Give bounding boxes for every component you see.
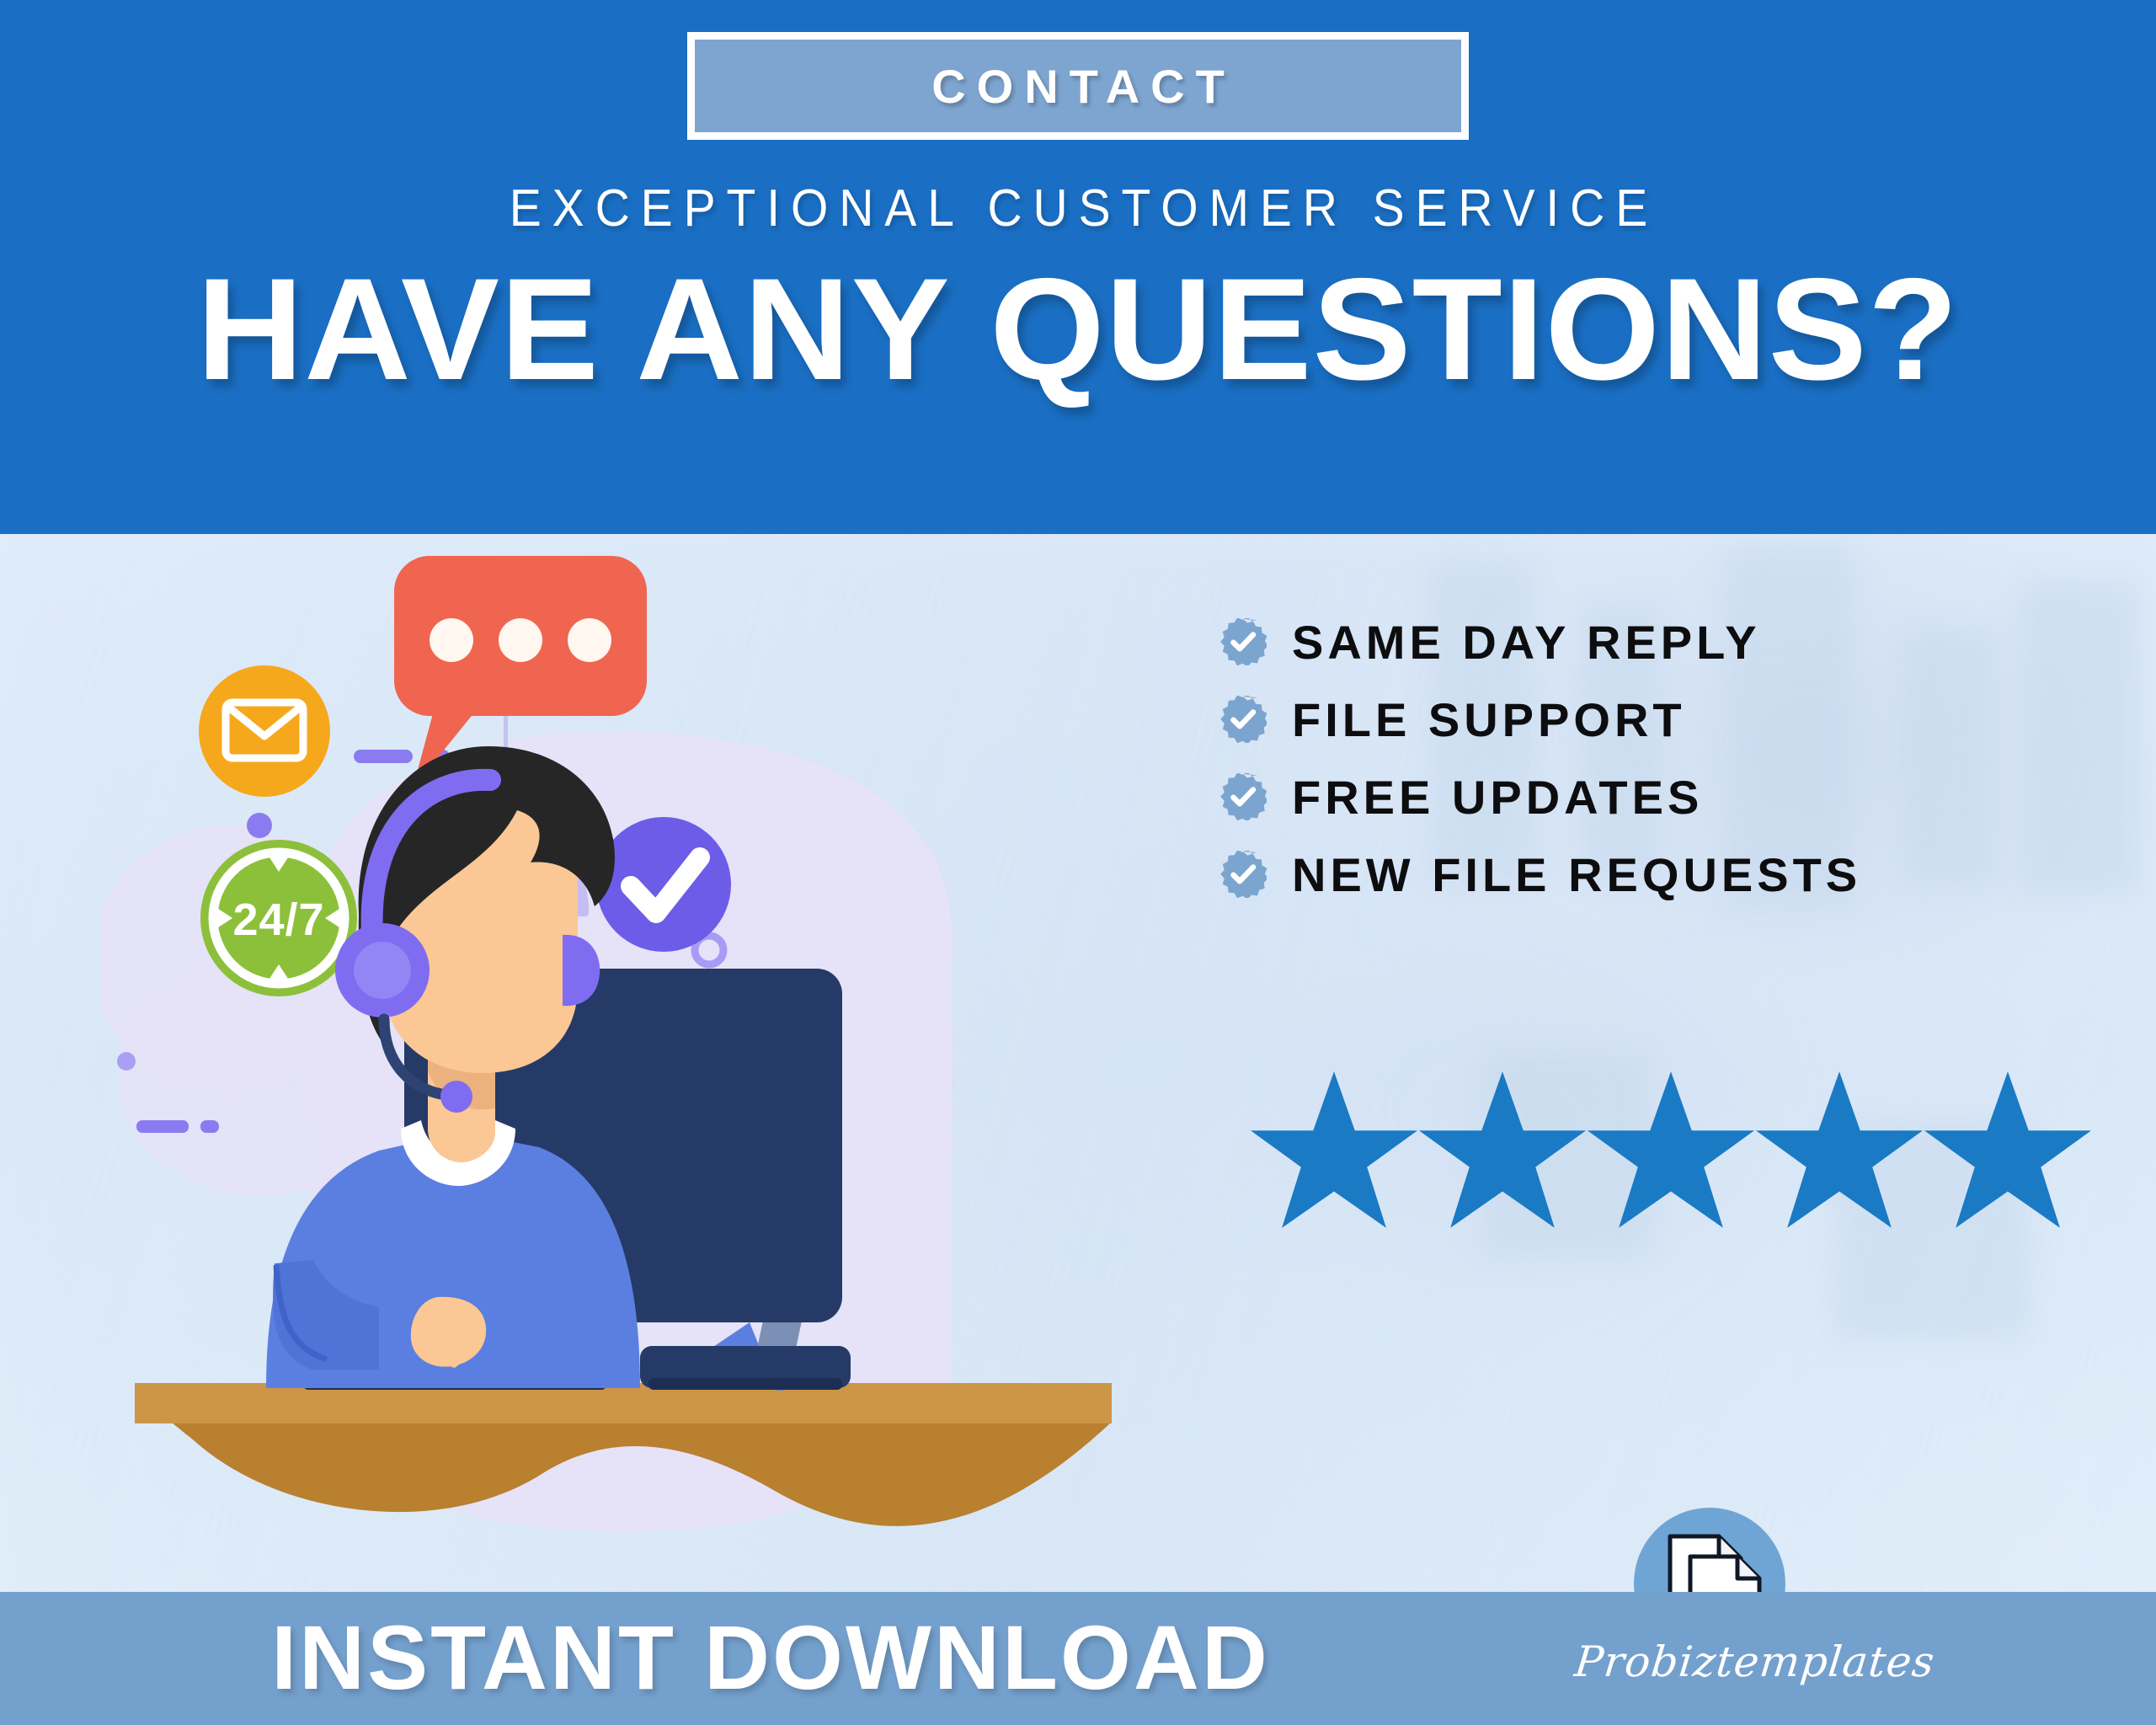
list-item: NEW FILE REQUESTS (1219, 836, 1861, 913)
star-icon (1415, 1068, 1590, 1235)
star-rating (1246, 1068, 2089, 1235)
feature-label: FREE UPDATES (1292, 770, 1703, 825)
check-circle-icon (596, 817, 731, 952)
feature-list: SAME DAY REPLY FILE SUPPORT FREE UPDATES (1219, 603, 1861, 913)
email-icon (199, 665, 330, 797)
contact-badge: CONTACT (687, 32, 1469, 140)
check-badge-icon (1219, 696, 1267, 743)
header-subtitle: EXCEPTIONAL CUSTOMER SERVICE (498, 179, 1657, 238)
page-title: HAVE ANY QUESTIONS? (197, 257, 1959, 402)
feature-label: NEW FILE REQUESTS (1292, 847, 1861, 902)
feature-label: FILE SUPPORT (1292, 692, 1686, 747)
list-item: SAME DAY REPLY (1219, 603, 1861, 681)
star-icon (1920, 1068, 2095, 1235)
list-item: FREE UPDATES (1219, 758, 1861, 836)
support-illustration: 24/7 (101, 539, 1230, 1583)
clock-24-7-badge: 24/7 (200, 840, 357, 996)
check-badge-icon (1219, 773, 1267, 820)
poster-canvas: CONTACT EXCEPTIONAL CUSTOMER SERVICE HAV… (0, 0, 2156, 1725)
star-icon (1246, 1068, 1422, 1235)
check-badge-icon (1219, 618, 1267, 665)
star-icon (1583, 1068, 1758, 1235)
star-icon (1752, 1068, 1927, 1235)
check-badge-icon (1219, 851, 1267, 898)
list-item: FILE SUPPORT (1219, 681, 1861, 758)
header-banner: CONTACT EXCEPTIONAL CUSTOMER SERVICE HAV… (0, 0, 2156, 534)
svg-text:24/7: 24/7 (232, 895, 324, 945)
brand-name: Probiztemplates (1572, 1637, 1864, 1686)
feature-label: SAME DAY REPLY (1292, 615, 1761, 670)
contact-badge-label: CONTACT (921, 59, 1235, 114)
instant-download-label: INSTANT DOWNLOAD (0, 1605, 1541, 1710)
